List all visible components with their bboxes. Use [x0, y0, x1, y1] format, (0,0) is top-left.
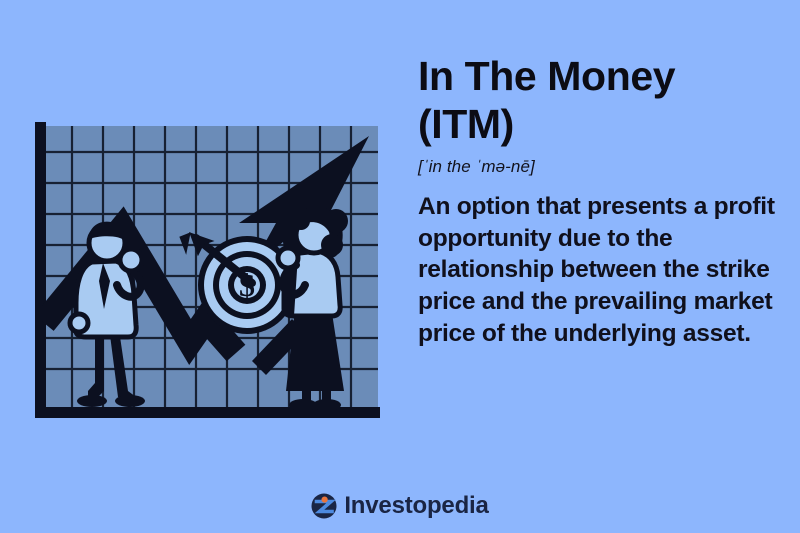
illustration-svg: $	[0, 95, 400, 435]
brand-lockup: Investopedia	[0, 493, 800, 519]
definition-text: An option that presents a profit opportu…	[418, 191, 790, 350]
investopedia-logo-icon	[311, 493, 337, 519]
title-line-1: In The Money	[418, 53, 675, 99]
pronunciation: [ˈin the ˈmə-nē]	[418, 157, 790, 177]
title-line-2: (ITM)	[418, 101, 514, 147]
brand-wordmark: Investopedia	[344, 494, 488, 518]
graphic-card: $	[0, 0, 800, 533]
page-title: In The Money (ITM)	[418, 52, 790, 149]
illustration: $	[0, 95, 400, 435]
text-column: In The Money (ITM) [ˈin the ˈmə-nē] An o…	[418, 52, 790, 350]
